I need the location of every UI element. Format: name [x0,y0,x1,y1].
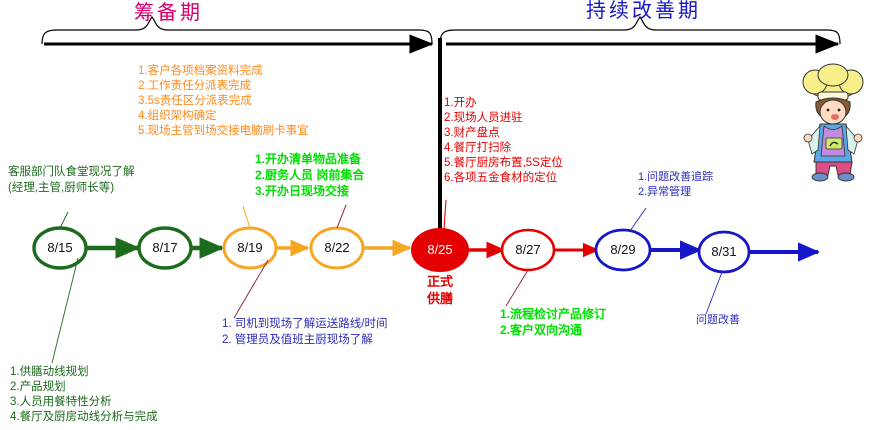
leader-lines [52,200,722,363]
phase-title-preparation: 筹备期 [134,2,203,26]
orange-task-5: 5.现场主管到场交接电脑刷卡事宜 [138,124,309,138]
orange-task-4: 4.组织架构确定 [138,109,217,123]
orange-task-3: 3.5s责任区分派表完成 [138,94,252,108]
opening-task-4: 4.餐厅打扫除 [444,142,511,156]
driver-task-2: 2. 管理员及值班主厨现场了解 [222,334,373,348]
planning-task-1: 1.供膳动线规划 [10,366,89,380]
orange-task-1: 1.客户各项档案资料完成 [138,64,263,78]
tracking-task-1: 1.问题改善追踪 [638,171,713,184]
node-label-5[interactable]: 8/27 [502,242,554,257]
driver-task-1: 1. 司机到现场了解运送路线/时间 [222,318,387,332]
opening-task-3: 3.财产盘点 [444,127,500,141]
opening-task-6: 6.各项五金食材的定位 [444,172,557,186]
milestone-sublabel-line2: 供膳 [408,291,472,306]
node-label-7[interactable]: 8/31 [698,244,750,259]
chef-icon [796,62,870,182]
node-label-4[interactable]: 8/25 [414,242,466,257]
review-task-1: 1.流程检讨产品修订 [500,307,606,323]
node-label-1[interactable]: 8/17 [139,240,191,255]
green-task-3: 3.开办日现场交接 [255,184,349,200]
improvement-label: 问题改善 [696,314,740,327]
green-task-1: 1.开办清单物品准备 [255,152,361,168]
opening-task-1: 1.开办 [444,97,477,111]
timeline-diagram: 筹备期 持续改善期 1.客户各项档案资料完成 2.工作责任分派表完成 3.5s责… [0,0,880,430]
node-label-0[interactable]: 8/15 [34,240,86,255]
milestone-sublabel-line1: 正式 [408,274,472,289]
review-task-2: 2.客户双向沟通 [500,323,582,339]
planning-task-2: 2.产品规划 [10,381,66,395]
brace-preparation [42,17,432,44]
planning-task-4: 4.餐厅及厨房动线分析与完成 [10,411,158,425]
orange-task-2: 2.工作责任分派表完成 [138,79,251,93]
node-label-6[interactable]: 8/29 [597,242,649,257]
customer-service-note-line2: (经理,主管,厨师长等) [8,182,114,196]
phase-title-improvement: 持续改善期 [586,0,701,24]
node-label-2[interactable]: 8/19 [224,240,276,255]
node-label-3[interactable]: 8/22 [311,240,363,255]
green-task-2: 2.厨务人员 岗前集合 [255,168,364,184]
tracking-task-2: 2.异常管理 [638,186,691,199]
opening-task-2: 2.现场人员进驻 [444,112,523,126]
customer-service-note-line1: 客服部门队食堂现况了解 [8,166,135,180]
opening-task-5: 5.餐厅厨房布置,5S定位 [444,157,563,171]
diagram-vector-layer [0,0,880,430]
planning-task-3: 3.人员用餐特性分析 [10,396,112,410]
